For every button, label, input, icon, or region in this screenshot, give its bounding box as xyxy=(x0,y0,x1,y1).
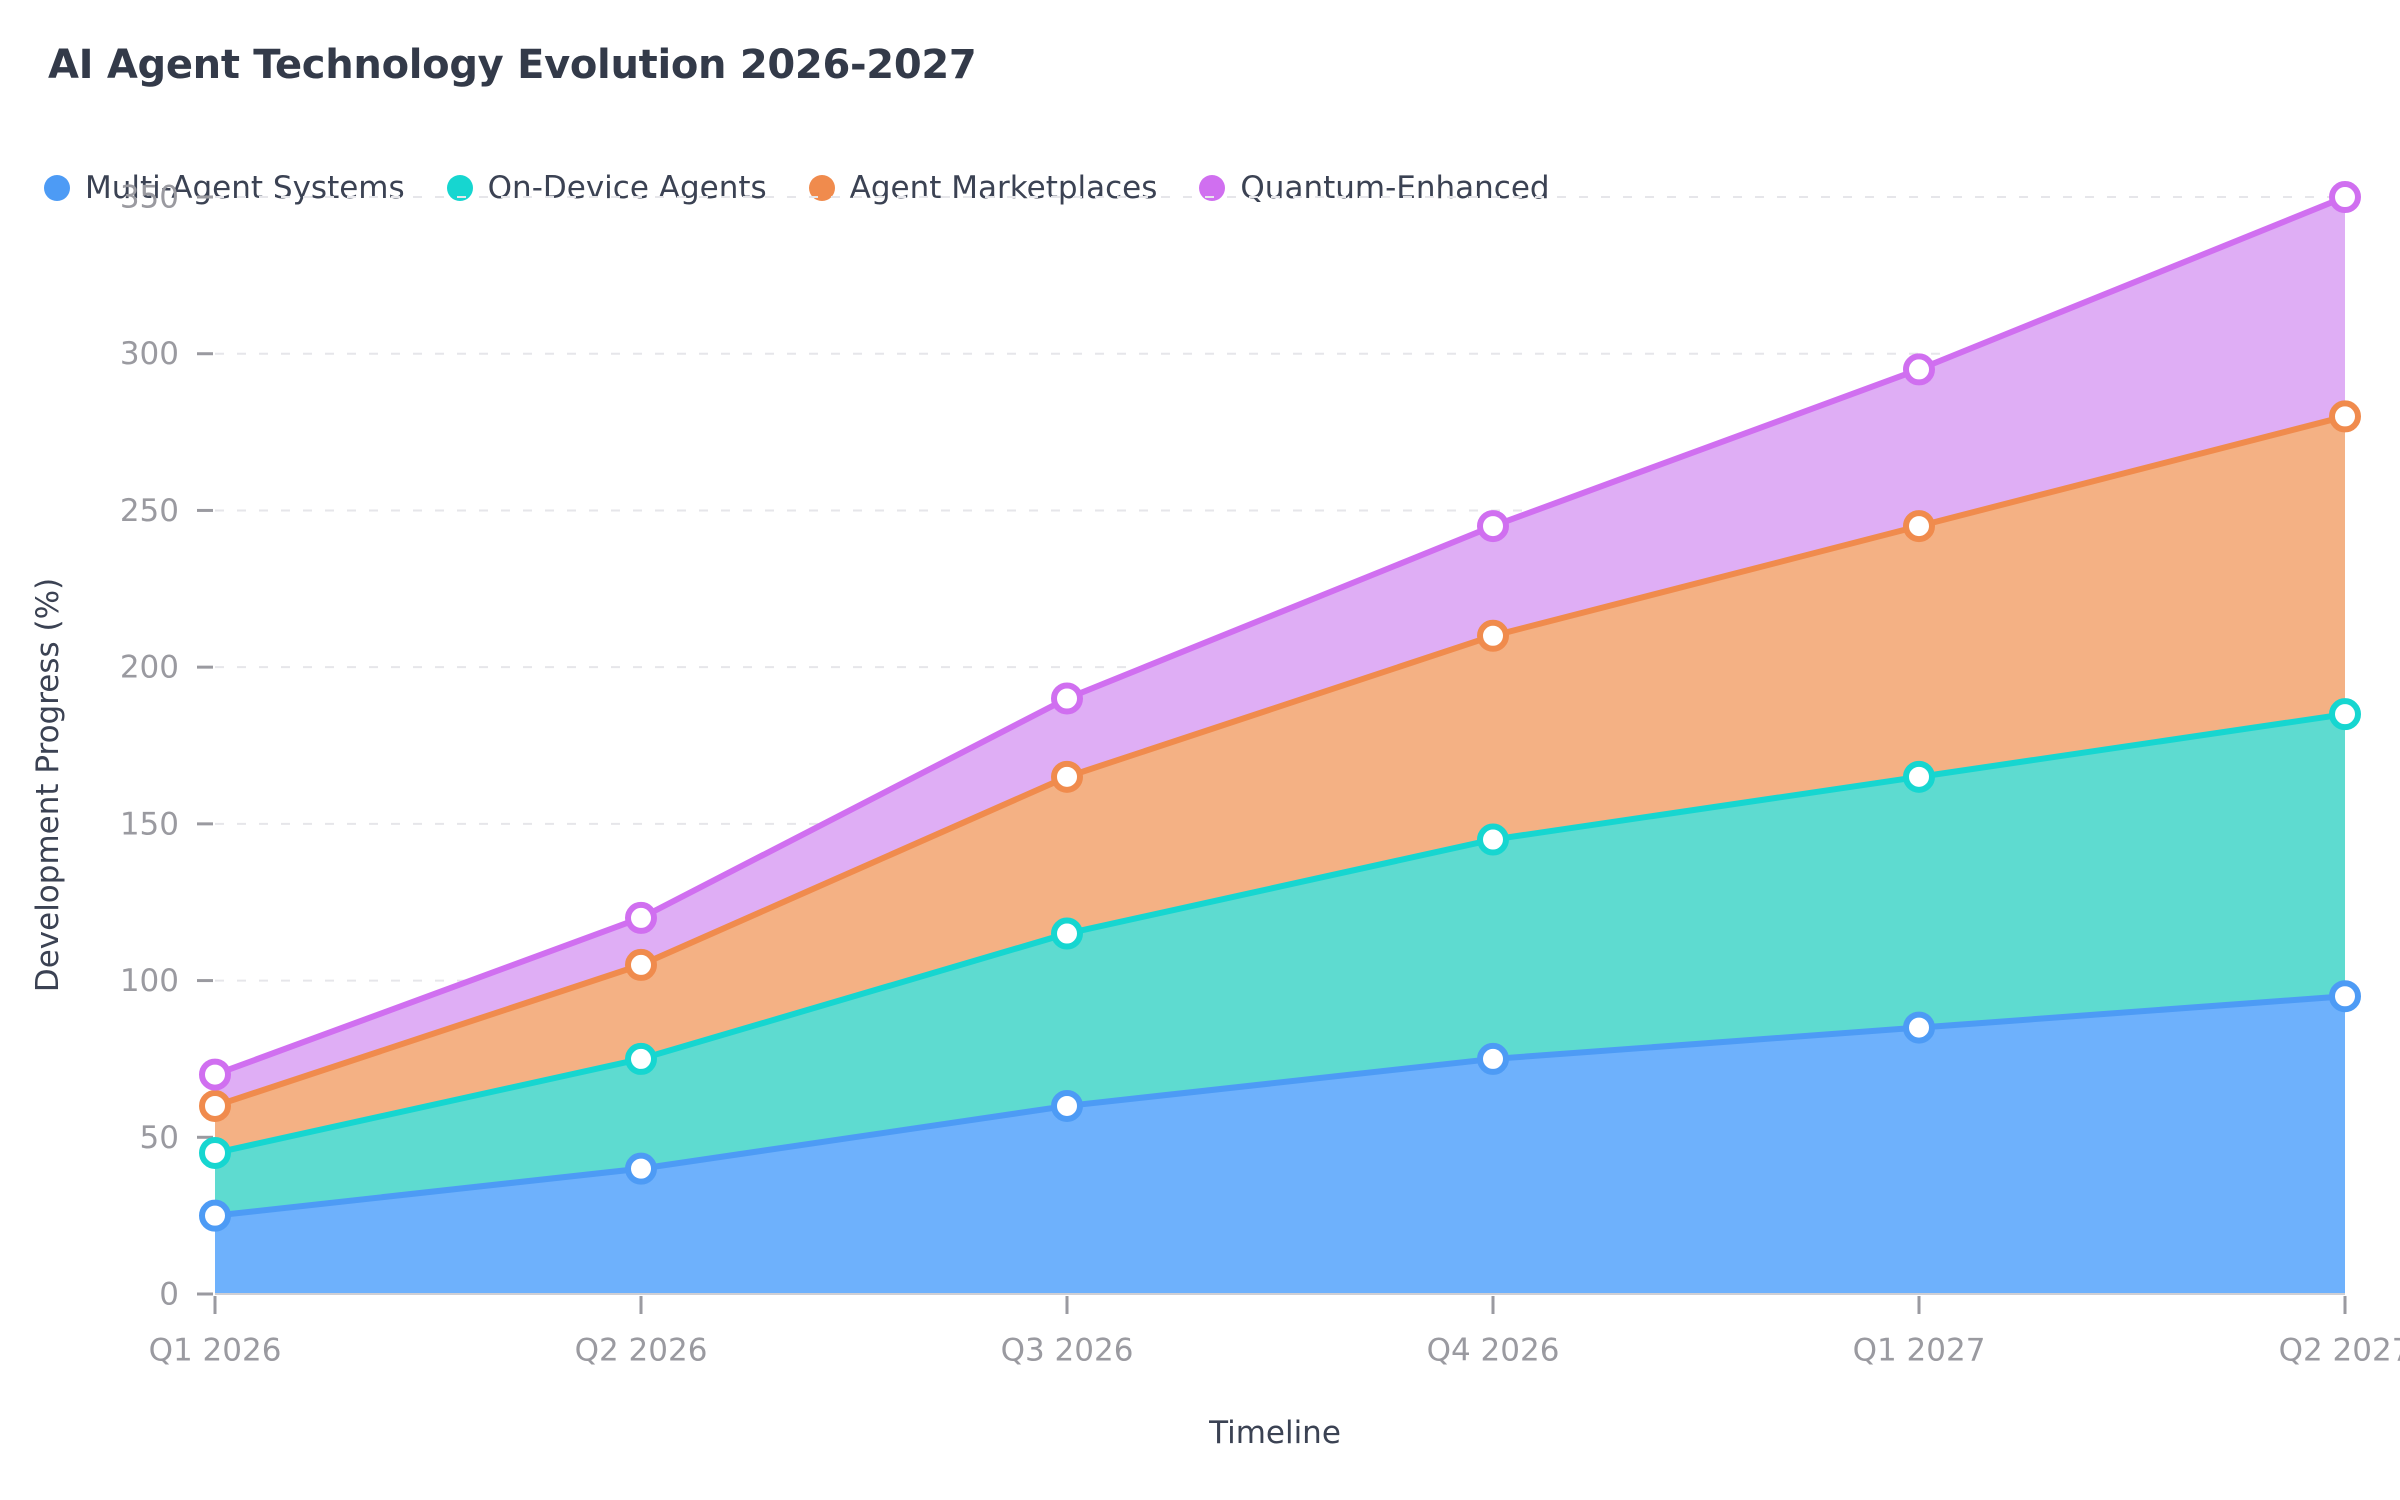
y-axis-title: Development Progress (%) xyxy=(30,578,66,992)
y-tick-labels: 050100150200250300350 xyxy=(120,180,179,1313)
x-tick-label: Q3 2026 xyxy=(1001,1332,1134,1368)
x-tick-label: Q1 2027 xyxy=(1853,1332,1986,1368)
x-tick-labels: Q1 2026Q2 2026Q3 2026Q4 2026Q1 2027Q2 20… xyxy=(149,1332,2400,1368)
y-tick-marks xyxy=(197,197,213,1294)
data-point-marker[interactable] xyxy=(1906,356,1932,382)
y-tick-label: 150 xyxy=(120,806,179,842)
chart-container: AI Agent Technology Evolution 2026-2027 … xyxy=(0,0,2400,1500)
area-series-group xyxy=(215,197,2345,1294)
data-point-marker[interactable] xyxy=(202,1140,228,1166)
data-point-marker[interactable] xyxy=(2332,701,2358,727)
data-point-marker[interactable] xyxy=(1480,513,1506,539)
data-point-marker[interactable] xyxy=(628,1046,654,1072)
data-point-marker[interactable] xyxy=(1054,685,1080,711)
y-tick-label: 0 xyxy=(159,1277,179,1313)
y-tick-label: 250 xyxy=(120,493,179,529)
y-tick-label: 200 xyxy=(120,650,179,686)
data-point-marker[interactable] xyxy=(628,952,654,978)
data-point-marker[interactable] xyxy=(1480,827,1506,853)
data-point-marker[interactable] xyxy=(1906,513,1932,539)
data-point-marker[interactable] xyxy=(2332,184,2358,210)
data-point-marker[interactable] xyxy=(1906,1015,1932,1041)
x-axis-title: Timeline xyxy=(1208,1415,1341,1451)
x-tick-label: Q4 2026 xyxy=(1427,1332,1560,1368)
data-point-marker[interactable] xyxy=(2332,403,2358,429)
y-tick-label: 100 xyxy=(120,963,179,999)
data-point-marker[interactable] xyxy=(1054,1093,1080,1119)
data-point-marker[interactable] xyxy=(628,1156,654,1182)
data-point-marker[interactable] xyxy=(1480,623,1506,649)
data-point-marker[interactable] xyxy=(202,1203,228,1229)
data-point-marker[interactable] xyxy=(2332,983,2358,1009)
y-tick-label: 50 xyxy=(140,1120,179,1156)
data-point-marker[interactable] xyxy=(202,1062,228,1088)
x-tick-label: Q2 2026 xyxy=(575,1332,708,1368)
x-tick-label: Q2 2027 xyxy=(2279,1332,2400,1368)
y-tick-label: 350 xyxy=(120,180,179,216)
data-point-marker[interactable] xyxy=(202,1093,228,1119)
chart-plot: 050100150200250300350 Q1 2026Q2 2026Q3 2… xyxy=(0,0,2400,1500)
data-point-marker[interactable] xyxy=(1906,764,1932,790)
y-tick-label: 300 xyxy=(120,336,179,372)
x-tick-label: Q1 2026 xyxy=(149,1332,282,1368)
data-point-marker[interactable] xyxy=(1054,921,1080,947)
data-point-marker[interactable] xyxy=(628,905,654,931)
x-axis-line xyxy=(215,1294,2345,1314)
data-point-marker[interactable] xyxy=(1480,1046,1506,1072)
data-point-marker[interactable] xyxy=(1054,764,1080,790)
